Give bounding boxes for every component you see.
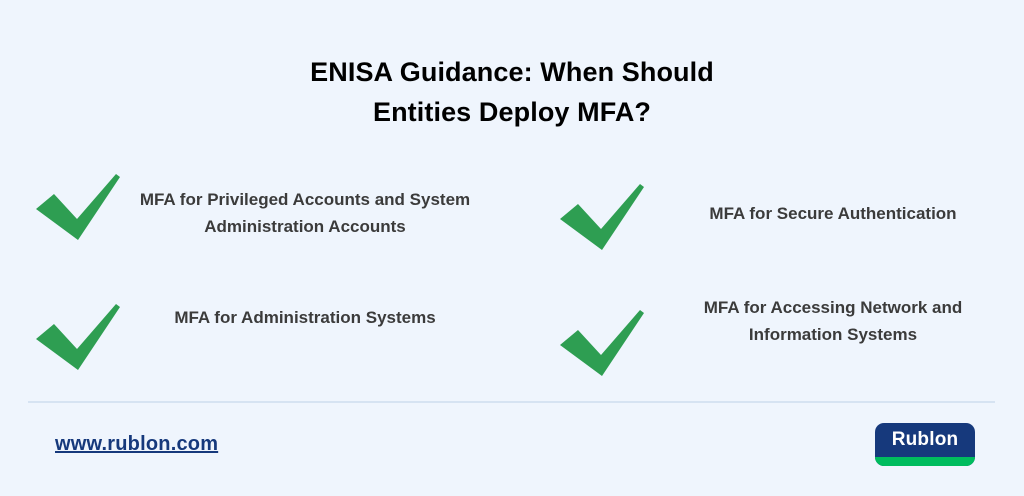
green-check-icon bbox=[18, 172, 138, 242]
checklist-item-label: MFA for Privileged Accounts and System A… bbox=[138, 172, 472, 240]
green-check-icon bbox=[542, 280, 662, 378]
rublon-logo-text: Rublon bbox=[875, 423, 975, 457]
rublon-logo: Rublon bbox=[875, 423, 975, 466]
checklist-item-privileged-accounts: MFA for Privileged Accounts and System A… bbox=[0, 168, 512, 276]
checklist-item-secure-authentication: MFA for Secure Authentication bbox=[512, 168, 1024, 276]
checklist-item-label: MFA for Accessing Network and Informatio… bbox=[668, 280, 998, 348]
green-check-icon bbox=[18, 280, 138, 372]
checklist-item-administration-systems: MFA for Administration Systems bbox=[0, 276, 512, 376]
page-title: ENISA Guidance: When Should Entities Dep… bbox=[0, 52, 1024, 132]
checklist-item-label: MFA for Administration Systems bbox=[138, 280, 472, 331]
page-title-line-2: Entities Deploy MFA? bbox=[0, 92, 1024, 132]
rublon-logo-accent-bar bbox=[875, 457, 975, 466]
green-check-icon bbox=[542, 172, 662, 252]
footer-divider bbox=[28, 401, 995, 403]
checklist-item-label: MFA for Secure Authentication bbox=[668, 172, 998, 227]
checklist-item-accessing-network: MFA for Accessing Network and Informatio… bbox=[512, 276, 1024, 376]
page-title-line-1: ENISA Guidance: When Should bbox=[0, 52, 1024, 92]
website-url-link[interactable]: www.rublon.com bbox=[55, 433, 218, 456]
checklist-grid: MFA for Privileged Accounts and System A… bbox=[0, 168, 1024, 376]
infographic-page: ENISA Guidance: When Should Entities Dep… bbox=[0, 0, 1024, 496]
